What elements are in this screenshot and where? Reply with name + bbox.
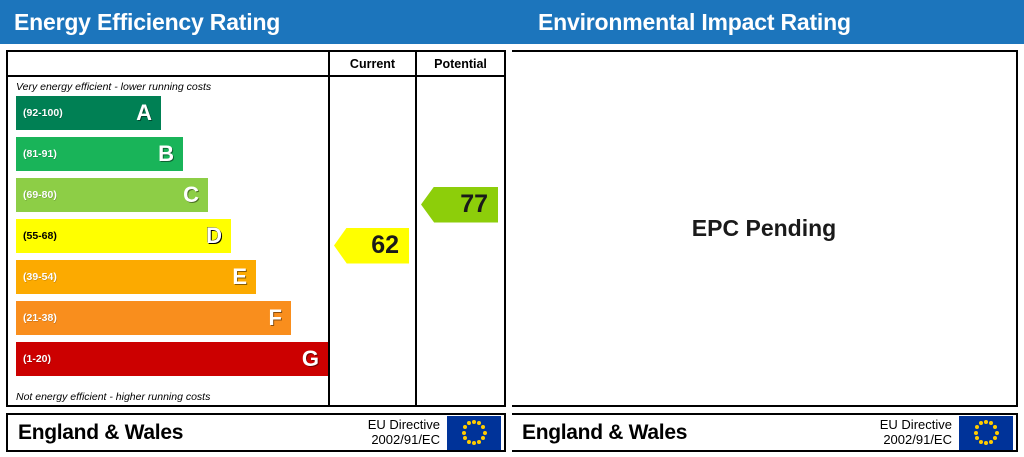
potential-column-header: Potential	[417, 52, 504, 77]
eu-flag-icon	[447, 416, 501, 450]
current-slot-b	[330, 143, 415, 184]
eu-flag-star	[472, 441, 476, 445]
current-column-header: Current	[330, 52, 415, 77]
potential-slot-g	[417, 348, 504, 389]
eu-flag-star	[975, 425, 979, 429]
energy-chart-table: Very energy efficient - lower running co…	[6, 50, 506, 407]
potential-rating-arrow-wrap: 77	[421, 184, 498, 225]
current-slot-e	[330, 266, 415, 307]
band-letter-d: D	[206, 225, 222, 247]
band-range-g: (1-20)	[23, 353, 51, 365]
energy-footer-inner: England & Wales EU Directive 2002/91/EC	[6, 413, 506, 452]
current-slot-c	[330, 184, 415, 225]
band-letter-f: F	[269, 307, 282, 329]
epc-pending-box: EPC Pending	[512, 50, 1018, 407]
band-list: (92-100) A (81-91) B (	[8, 94, 328, 388]
energy-chart-body: Very energy efficient - lower running co…	[0, 44, 512, 413]
band-row: (1-20) G	[16, 340, 328, 378]
current-slot-d: 62	[330, 225, 415, 266]
band-range-c: (69-80)	[23, 189, 57, 201]
footer-region-label: England & Wales	[512, 421, 880, 445]
band-bar-d: (55-68) D	[16, 219, 231, 253]
footer-directive-line2: 2002/91/EC	[368, 433, 440, 447]
band-bar-f: (21-38) F	[16, 301, 291, 335]
band-range-f: (21-38)	[23, 312, 57, 324]
eu-flag-star	[463, 436, 467, 440]
current-rating-arrow-wrap: 62	[334, 225, 409, 266]
energy-footer: England & Wales EU Directive 2002/91/EC	[0, 413, 512, 457]
band-letter-a: A	[136, 102, 152, 124]
eu-flag-star	[481, 436, 485, 440]
band-row: (21-38) F	[16, 299, 328, 337]
footer-region-label: England & Wales	[8, 421, 368, 445]
band-range-a: (92-100)	[23, 107, 63, 119]
eu-flag-star	[984, 441, 988, 445]
eu-flag-star	[995, 431, 999, 435]
band-range-e: (39-54)	[23, 271, 57, 283]
footer-directive-label: EU Directive 2002/91/EC	[368, 418, 447, 446]
bands-column: Very energy efficient - lower running co…	[8, 52, 330, 405]
footer-directive-label: EU Directive 2002/91/EC	[880, 418, 959, 446]
band-bar-a: (92-100) A	[16, 96, 161, 130]
environmental-impact-title: Environmental Impact Rating	[538, 9, 851, 36]
epc-certificate: Energy Efficiency Rating Very energy eff…	[0, 0, 1024, 457]
current-rating-value: 62	[371, 233, 399, 258]
eu-flag-icon	[959, 416, 1013, 450]
eu-flag-star	[467, 440, 471, 444]
potential-column: Potential 77	[417, 52, 504, 405]
potential-rating-value: 77	[460, 192, 488, 217]
band-letter-b: B	[158, 143, 174, 165]
eu-flag-star	[463, 425, 467, 429]
current-spacer	[330, 77, 415, 102]
environmental-footer: England & Wales EU Directive 2002/91/EC	[512, 413, 1024, 457]
band-bar-c: (69-80) C	[16, 178, 208, 212]
eu-flag-star	[467, 421, 471, 425]
potential-slot-c: 77	[417, 184, 504, 225]
band-bar-g: (1-20) G	[16, 342, 328, 376]
band-row: (69-80) C	[16, 176, 328, 214]
eu-flag-star	[979, 421, 983, 425]
eu-flag-star	[483, 431, 487, 435]
current-column: Current 62	[330, 52, 417, 405]
potential-slot-d	[417, 225, 504, 266]
environmental-chart-body: EPC Pending	[512, 44, 1024, 413]
energy-efficiency-panel: Energy Efficiency Rating Very energy eff…	[0, 0, 512, 457]
eu-flag-star	[481, 425, 485, 429]
potential-spacer	[417, 77, 504, 102]
band-row: (81-91) B	[16, 135, 328, 173]
potential-slot-f	[417, 307, 504, 348]
eu-flag-star	[993, 436, 997, 440]
current-slot-a	[330, 102, 415, 143]
potential-slot-e	[417, 266, 504, 307]
eu-flag-star	[477, 440, 481, 444]
band-bar-e: (39-54) E	[16, 260, 256, 294]
bands-column-header	[8, 52, 328, 77]
band-bar-b: (81-91) B	[16, 137, 183, 171]
band-letter-c: C	[183, 184, 199, 206]
eu-flag-star	[462, 431, 466, 435]
band-range-d: (55-68)	[23, 230, 57, 242]
footer-directive-line1: EU Directive	[880, 418, 952, 432]
eu-flag-star	[974, 431, 978, 435]
environmental-footer-inner: England & Wales EU Directive 2002/91/EC	[512, 413, 1018, 452]
epc-pending-text: EPC Pending	[692, 215, 836, 242]
potential-rating-arrow: 77	[421, 187, 498, 223]
band-row: (55-68) D	[16, 217, 328, 255]
current-slot-g	[330, 348, 415, 389]
current-rating-arrow: 62	[334, 228, 409, 264]
eu-flag-star	[989, 440, 993, 444]
potential-slot-a	[417, 102, 504, 143]
band-range-b: (81-91)	[23, 148, 57, 160]
environmental-impact-header: Environmental Impact Rating	[512, 0, 1024, 44]
bottom-caption: Not energy efficient - higher running co…	[8, 388, 328, 405]
potential-slot-b	[417, 143, 504, 184]
current-slot-f	[330, 307, 415, 348]
energy-efficiency-title: Energy Efficiency Rating	[14, 9, 280, 36]
energy-efficiency-header: Energy Efficiency Rating	[0, 0, 512, 44]
eu-flag-star	[993, 425, 997, 429]
band-letter-e: E	[232, 266, 247, 288]
eu-flag-star	[979, 440, 983, 444]
environmental-impact-panel: Environmental Impact Rating EPC Pending …	[512, 0, 1024, 457]
band-row: (39-54) E	[16, 258, 328, 296]
band-row: (92-100) A	[16, 94, 328, 132]
band-letter-g: G	[302, 348, 319, 370]
top-caption: Very energy efficient - lower running co…	[8, 77, 328, 94]
eu-flag-star	[975, 436, 979, 440]
eu-flag-star	[984, 420, 988, 424]
footer-directive-line1: EU Directive	[368, 418, 440, 432]
footer-directive-line2: 2002/91/EC	[880, 433, 952, 447]
eu-flag-star	[472, 420, 476, 424]
